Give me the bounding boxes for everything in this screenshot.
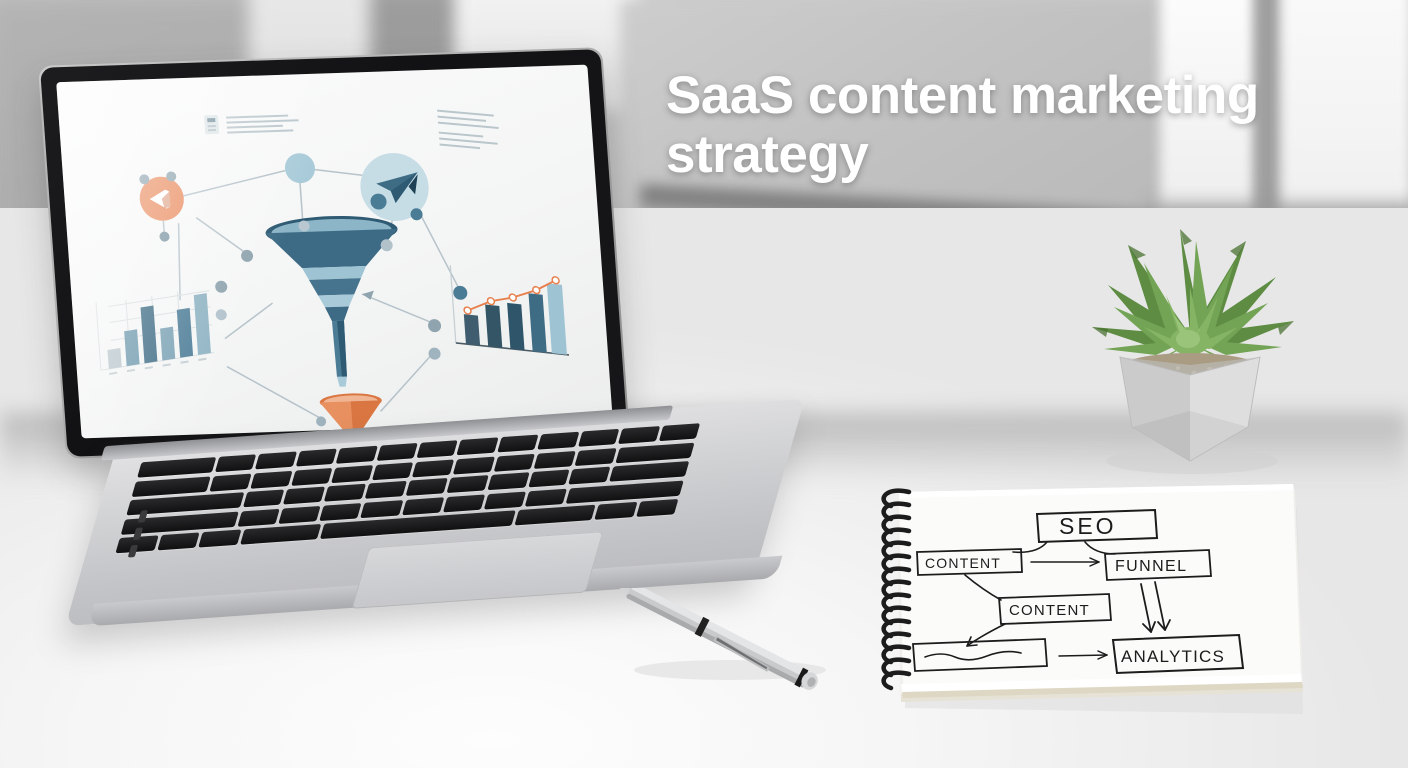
key[interactable] [283, 487, 325, 505]
notepad-box-content-2: CONTENT [1009, 602, 1090, 619]
key[interactable] [537, 432, 579, 450]
key[interactable] [210, 473, 252, 491]
headline-line-1: SaaS content marketing [666, 66, 1346, 125]
key[interactable] [412, 459, 454, 477]
key[interactable] [132, 476, 211, 497]
key[interactable] [291, 467, 333, 485]
succulent-plant [1070, 215, 1310, 480]
laptop-screen[interactable] [56, 65, 613, 439]
key[interactable] [365, 481, 407, 499]
key[interactable] [243, 489, 285, 507]
key[interactable] [416, 440, 458, 458]
headline-line-2: strategy [666, 125, 1346, 184]
spiral-notepad[interactable]: SEO CONTENT FUNNEL CONTENT ANALYTICS [875, 478, 1305, 728]
key[interactable] [446, 475, 488, 493]
key[interactable] [331, 465, 373, 483]
notepad-box-seo: SEO [1059, 513, 1117, 539]
key-command-right[interactable] [514, 505, 595, 526]
notepad-box-analytics: ANALYTICS [1121, 647, 1225, 666]
key[interactable] [569, 467, 611, 485]
key[interactable] [525, 488, 567, 506]
key[interactable] [487, 472, 529, 490]
key-control[interactable] [157, 532, 200, 550]
key[interactable] [618, 426, 660, 444]
key[interactable] [376, 443, 418, 461]
key[interactable] [578, 429, 620, 447]
key[interactable] [484, 491, 526, 509]
key[interactable] [658, 423, 700, 441]
key-arrow-cluster[interactable] [636, 499, 679, 517]
key[interactable] [295, 449, 337, 467]
key-return[interactable] [609, 461, 689, 482]
key[interactable] [457, 437, 499, 455]
key[interactable] [279, 505, 321, 523]
key[interactable] [372, 462, 414, 480]
pot-shape [1120, 357, 1260, 461]
key[interactable] [494, 453, 536, 471]
key[interactable] [324, 484, 366, 502]
key[interactable] [615, 442, 694, 463]
key[interactable] [320, 503, 362, 521]
key[interactable] [250, 470, 292, 488]
key[interactable] [443, 494, 485, 512]
key-option-right[interactable] [594, 502, 637, 520]
key-option[interactable] [198, 530, 241, 548]
key[interactable] [406, 478, 448, 496]
key[interactable] [215, 454, 257, 472]
key[interactable] [497, 435, 539, 453]
key[interactable] [336, 446, 378, 464]
notepad-box-content-1: CONTENT [925, 555, 1001, 571]
key[interactable] [528, 469, 570, 487]
key[interactable] [575, 448, 617, 466]
key[interactable] [453, 456, 495, 474]
key[interactable] [255, 451, 297, 469]
scene-container: SEO CONTENT FUNNEL CONTENT ANALYTICS [0, 0, 1408, 768]
key[interactable] [238, 508, 280, 526]
marketing-funnel-infographic [56, 65, 613, 439]
notepad-box-funnel: FUNNEL [1115, 558, 1187, 575]
page-title: SaaS content marketing strategy [666, 66, 1346, 185]
key[interactable] [361, 500, 403, 518]
key[interactable] [402, 497, 444, 515]
silver-ballpoint-pen [600, 588, 850, 698]
key-command[interactable] [240, 524, 321, 545]
key[interactable] [534, 450, 576, 468]
